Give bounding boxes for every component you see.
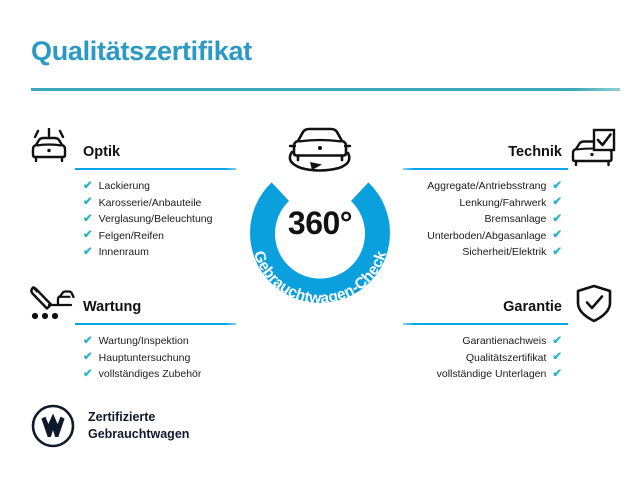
list-item: Aggregate/Antriebsstrang✔ [390, 178, 562, 195]
wrench-car-service-icon [25, 283, 75, 330]
section-optik: Optik ✔Lackierung ✔Karosserie/Anbauteile… [20, 128, 250, 261]
check-icon: ✔ [552, 352, 562, 364]
shield-check-icon [571, 283, 617, 330]
check-icon: ✔ [83, 181, 93, 193]
title-divider [31, 88, 620, 91]
section-optik-divider [75, 168, 236, 170]
section-technik-divider [403, 168, 568, 170]
check-icon: ✔ [552, 197, 562, 209]
list-item-label: Garantienachweis [462, 333, 546, 350]
list-item: ✔Lackierung [83, 178, 250, 195]
list-item-label: Innenraum [99, 244, 149, 261]
footer-line-2: Gebrauchtwagen [88, 426, 189, 443]
section-garantie-divider [403, 323, 568, 325]
check-icon: ✔ [552, 181, 562, 193]
list-item: vollständige Unterlagen✔ [390, 366, 562, 383]
list-item: Sicherheit/Elektrik✔ [390, 244, 562, 261]
list-item: Garantienachweis✔ [390, 333, 562, 350]
list-item-label: Karosserie/Anbauteile [99, 195, 202, 212]
section-technik-list: Aggregate/Antriebsstrang✔ Lenkung/Fahrwe… [390, 178, 620, 261]
volkswagen-logo [31, 404, 75, 448]
section-technik-heading: Technik [508, 144, 562, 160]
footer-brand: Zertifizierte Gebrauchtwagen [31, 404, 189, 448]
list-item: ✔Verglasung/Beleuchtung [83, 211, 250, 228]
section-optik-list: ✔Lackierung ✔Karosserie/Anbauteile ✔Verg… [20, 178, 250, 261]
section-wartung-list: ✔Wartung/Inspektion ✔Hauptuntersuchung ✔… [20, 333, 250, 383]
check-icon: ✔ [83, 336, 93, 348]
list-item: ✔Karosserie/Anbauteile [83, 195, 250, 212]
list-item: Lenkung/Fahrwerk✔ [390, 195, 562, 212]
list-item-label: Sicherheit/Elektrik [462, 244, 546, 261]
car-shine-icon [25, 128, 73, 175]
list-item-label: Lackierung [99, 178, 150, 195]
check-icon: ✔ [83, 247, 93, 259]
section-garantie: Garantie Garantienachweis✔ Qualitätszert… [390, 283, 620, 383]
check-icon: ✔ [83, 197, 93, 209]
check-icon: ✔ [552, 369, 562, 381]
check-icon: ✔ [552, 336, 562, 348]
list-item-label: Verglasung/Beleuchtung [99, 211, 213, 228]
list-item: ✔Innenraum [83, 244, 250, 261]
list-item-label: Lenkung/Fahrwerk [459, 195, 546, 212]
right-column: Technik Aggregate/Antriebsstrang✔ Lenkun… [390, 128, 620, 383]
footer-brand-text: Zertifizierte Gebrauchtwagen [88, 409, 189, 443]
list-item: Unterboden/Abgasanlage✔ [390, 228, 562, 245]
list-item-label: Qualitätszertifikat [466, 350, 547, 367]
section-wartung-heading: Wartung [83, 299, 141, 315]
certificate-page: Qualitätszertifikat [0, 0, 640, 480]
left-column: Optik ✔Lackierung ✔Karosserie/Anbauteile… [20, 128, 250, 383]
check-icon: ✔ [83, 352, 93, 364]
page-title: Qualitätszertifikat [31, 36, 252, 67]
footer-line-1: Zertifizierte [88, 409, 189, 426]
list-item-label: Wartung/Inspektion [99, 333, 189, 350]
badge-degrees: 360° [231, 205, 409, 242]
list-item-label: Aggregate/Antriebsstrang [427, 178, 546, 195]
list-item-label: vollständiges Zubehör [99, 366, 202, 383]
check-icon: ✔ [552, 230, 562, 242]
list-item-label: Unterboden/Abgasanlage [427, 228, 546, 245]
list-item: ✔Felgen/Reifen [83, 228, 250, 245]
section-wartung-header: Wartung [20, 283, 250, 327]
section-technik: Technik Aggregate/Antriebsstrang✔ Lenkun… [390, 128, 620, 261]
section-wartung-divider [75, 323, 236, 325]
list-item: Bremsanlage✔ [390, 211, 562, 228]
check-icon: ✔ [552, 247, 562, 259]
section-garantie-list: Garantienachweis✔ Qualitätszertifikat✔ v… [390, 333, 620, 383]
section-technik-header: Technik [390, 128, 620, 172]
check-icon: ✔ [552, 214, 562, 226]
check-icon: ✔ [83, 230, 93, 242]
check-icon: ✔ [83, 214, 93, 226]
section-wartung: Wartung ✔Wartung/Inspektion ✔Hauptunters… [20, 283, 250, 383]
list-item: ✔Wartung/Inspektion [83, 333, 250, 350]
list-item: Qualitätszertifikat✔ [390, 350, 562, 367]
section-optik-heading: Optik [83, 144, 120, 160]
badge-360-gebrauchtwagen-check: Gebrauchtwagen-Check 360° [231, 145, 409, 323]
list-item: ✔vollständiges Zubehör [83, 366, 250, 383]
list-item-label: vollständige Unterlagen [437, 366, 547, 383]
check-icon: ✔ [83, 369, 93, 381]
list-item: ✔Hauptuntersuchung [83, 350, 250, 367]
section-optik-header: Optik [20, 128, 250, 172]
car-checkbox-icon [567, 128, 617, 177]
list-item-label: Felgen/Reifen [99, 228, 164, 245]
list-item-label: Hauptuntersuchung [99, 350, 191, 367]
car-rotate-360-icon [279, 118, 361, 184]
list-item-label: Bremsanlage [484, 211, 546, 228]
section-garantie-header: Garantie [390, 283, 620, 327]
section-garantie-heading: Garantie [503, 299, 562, 315]
